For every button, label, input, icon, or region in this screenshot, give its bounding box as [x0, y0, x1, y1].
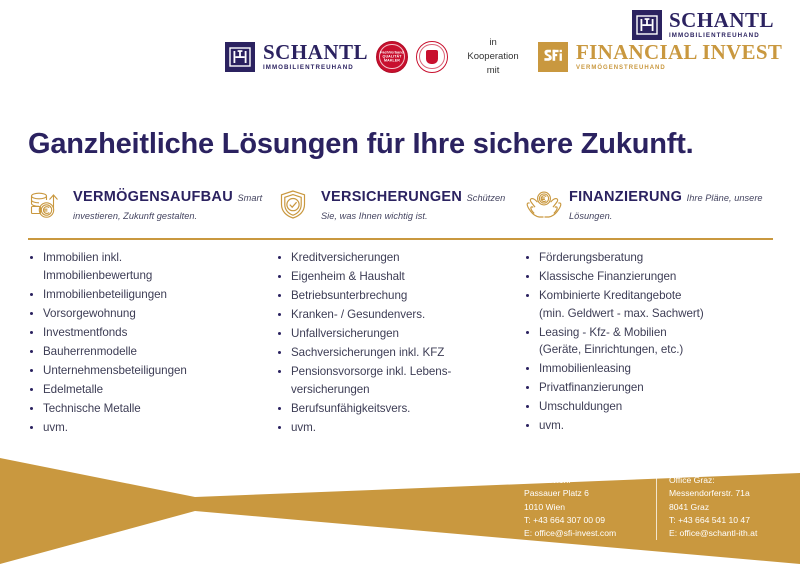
list-item-label: Sachversicherungen inkl. KFZ: [291, 346, 444, 359]
list-item: Leasing - Kfz- & Mobilien(Geräte, Einric…: [524, 324, 762, 359]
category-title: VERMÖGENSAUFBAU: [73, 189, 233, 205]
list-item: Edelmetalle: [28, 381, 266, 399]
corner-ith-name: SCHANTL: [669, 10, 774, 31]
list-item: Pensionsvorsorge inkl. Lebens-versicheru…: [276, 363, 514, 398]
list-item: Technische Metalle: [28, 400, 266, 418]
list-item: uvm.: [28, 419, 266, 437]
corner-logo: SCHANTL IMMOBILIENTREUHAND: [632, 10, 774, 40]
list-item-label: Unternehmensbeteiligungen: [43, 364, 187, 377]
office-city: 8041 Graz: [669, 501, 796, 514]
list-item-label: uvm.: [43, 421, 68, 434]
corner-ith-wordmark: SCHANTL IMMOBILIENTREUHAND: [669, 10, 774, 39]
sfi-name: FINANCIAL INVEST: [576, 42, 782, 63]
category-headers: VERMÖGENSAUFBAU Smart investieren, Zukun…: [28, 186, 773, 232]
ith-wordmark: SCHANTL IMMOBILIENTREUHAND: [263, 42, 368, 71]
bullet-list: Förderungsberatung Klassische Finanzieru…: [524, 249, 762, 435]
corner-ith-monogram-icon: [632, 10, 662, 40]
list-item: Unternehmensbeteiligungen: [28, 362, 266, 380]
office-street: Passauer Platz 6: [524, 487, 656, 500]
list-item-label: Vorsorgewohnung: [43, 307, 136, 320]
wko-seal-icon: [416, 41, 448, 73]
office-phone[interactable]: T: +43 664 307 00 09: [524, 514, 656, 527]
list-item-label: Betriebsunterbrechung: [291, 289, 407, 302]
list-item-continuation: (Geräte, Einrichtungen, etc.): [539, 341, 762, 359]
list-vermoegensaufbau: Immobilien inkl.Immobilienbewertung Immo…: [28, 249, 276, 438]
ith-name: SCHANTL: [263, 42, 368, 63]
list-item: Privatfinanzierungen: [524, 379, 762, 397]
list-versicherungen: Kreditversicherungen Eigenheim & Haushal…: [276, 249, 524, 438]
list-item-label: Eigenheim & Haushalt: [291, 270, 405, 283]
cooperation-line-1: in: [462, 36, 524, 50]
list-item-label: Kranken- / Gesundenvers.: [291, 308, 425, 321]
list-item: Bauherrenmodelle: [28, 343, 266, 361]
list-item-label: uvm.: [539, 419, 564, 432]
list-item-label: Umschuldungen: [539, 400, 622, 413]
sfi-wordmark: FINANCIAL INVEST VERMÖGENSTREUHAND: [576, 42, 782, 71]
category-title: FINANZIERUNG: [569, 189, 682, 205]
list-item-label: Immobilienbeteiligungen: [43, 288, 167, 301]
office-phone[interactable]: T: +43 664 541 10 47: [669, 514, 796, 527]
list-item-continuation: Immobilienbewertung: [43, 267, 266, 285]
office-label: Office Graz:: [669, 474, 796, 487]
ith-monogram-icon: [225, 42, 255, 72]
service-lists: Immobilien inkl.Immobilienbewertung Immo…: [28, 249, 773, 438]
cooperation-line-2: Kooperation: [462, 50, 524, 64]
seal-line3: MAKLER: [384, 59, 400, 63]
partner-logo-row: SCHANTL IMMOBILIENTREUHAND FachVerband Q…: [225, 36, 782, 77]
list-item-label: Klassische Finanzierungen: [539, 270, 676, 283]
coins-euro-growth-icon: [28, 186, 64, 224]
list-finanzierung: Förderungsberatung Klassische Finanzieru…: [524, 249, 772, 438]
gold-divider-rule: [28, 238, 773, 240]
list-item: Betriebsunterbrechung: [276, 287, 514, 305]
office-street: Messendorferstr. 71a: [669, 487, 796, 500]
list-item: Sachversicherungen inkl. KFZ: [276, 344, 514, 362]
office-wien-block: Office Wien: Passauer Platz 6 1010 Wien …: [524, 474, 656, 540]
hands-coin-icon: [524, 186, 560, 224]
list-item: uvm.: [524, 417, 762, 435]
category-finanzierung: FINANZIERUNG Ihre Pläne, unsere Lösungen…: [524, 186, 772, 232]
list-item: Kreditversicherungen: [276, 249, 514, 267]
footer-contact: Office Wien: Passauer Platz 6 1010 Wien …: [524, 474, 796, 540]
bullet-list: Immobilien inkl.Immobilienbewertung Immo…: [28, 249, 266, 436]
list-item-label: Förderungsberatung: [539, 251, 643, 264]
list-item: Kombinierte Kreditangebote(min. Geldwert…: [524, 287, 762, 322]
list-item-label: Bauherrenmodelle: [43, 345, 137, 358]
sfi-tagline: VERMÖGENSTREUHAND: [576, 65, 782, 71]
list-item-label: Berufsunfähigkeitsvers.: [291, 402, 410, 415]
list-item: Immobilienbeteiligungen: [28, 286, 266, 304]
list-item: Immobilien inkl.Immobilienbewertung: [28, 249, 266, 284]
list-item: Eigenheim & Haushalt: [276, 268, 514, 286]
list-item: Klassische Finanzierungen: [524, 268, 762, 286]
category-vermoegensaufbau: VERMÖGENSAUFBAU Smart investieren, Zukun…: [28, 186, 276, 232]
list-item-label: Technische Metalle: [43, 402, 141, 415]
list-item-label: uvm.: [291, 421, 316, 434]
sfi-monogram-icon: [538, 42, 568, 72]
list-item: Immobilienleasing: [524, 360, 762, 378]
list-item: Kranken- / Gesundenvers.: [276, 306, 514, 324]
list-item-label: Kreditversicherungen: [291, 251, 400, 264]
list-item: Förderungsberatung: [524, 249, 762, 267]
list-item: Vorsorgewohnung: [28, 305, 266, 323]
cooperation-note: in Kooperation mit: [462, 36, 524, 77]
list-item: Unfallversicherungen: [276, 325, 514, 343]
category-title: VERSICHERUNGEN: [321, 189, 462, 205]
office-city: 1010 Wien: [524, 501, 656, 514]
office-email[interactable]: E: office@schantl-ith.at: [669, 527, 796, 540]
list-item-label: Kombinierte Kreditangebote: [539, 289, 681, 302]
list-item: uvm.: [276, 419, 514, 437]
list-item-label: Leasing - Kfz- & Mobilien: [539, 326, 667, 339]
list-item-label: Investmentfonds: [43, 326, 127, 339]
corner-ith-tagline: IMMOBILIENTREUHAND: [669, 33, 774, 39]
list-item: Investmentfonds: [28, 324, 266, 342]
list-item-label: Pensionsvorsorge inkl. Lebens-: [291, 365, 451, 378]
list-item-label: Unfallversicherungen: [291, 327, 399, 340]
page-headline: Ganzheitliche Lösungen für Ihre sichere …: [28, 128, 772, 161]
office-graz-block: Office Graz: Messendorferstr. 71a 8041 G…: [656, 474, 796, 540]
office-email[interactable]: E: office@sfi-invest.com: [524, 527, 656, 540]
cooperation-line-3: mit: [462, 64, 524, 78]
bullet-list: Kreditversicherungen Eigenheim & Haushal…: [276, 249, 514, 436]
category-versicherungen: VERSICHERUNGEN Schützen Sie, was Ihnen w…: [276, 186, 524, 232]
office-label: Office Wien:: [524, 474, 656, 487]
list-item-label: Privatfinanzierungen: [539, 381, 644, 394]
list-item-label: Immobilienleasing: [539, 362, 631, 375]
list-item-continuation: (min. Geldwert - max. Sachwert): [539, 305, 762, 323]
list-item: Berufsunfähigkeitsvers.: [276, 400, 514, 418]
ith-tagline: IMMOBILIENTREUHAND: [263, 65, 368, 71]
list-item-continuation: versicherungen: [291, 381, 514, 399]
qualitaets-makler-seal-icon: FachVerband QUALITÄT MAKLER: [376, 41, 408, 73]
list-item-label: Immobilien inkl.: [43, 251, 122, 264]
list-item: Umschuldungen: [524, 398, 762, 416]
list-item-label: Edelmetalle: [43, 383, 103, 396]
header-logo-strip: SCHANTL IMMOBILIENTREUHAND FachVerband Q…: [0, 0, 800, 100]
shield-check-icon: [276, 186, 312, 224]
